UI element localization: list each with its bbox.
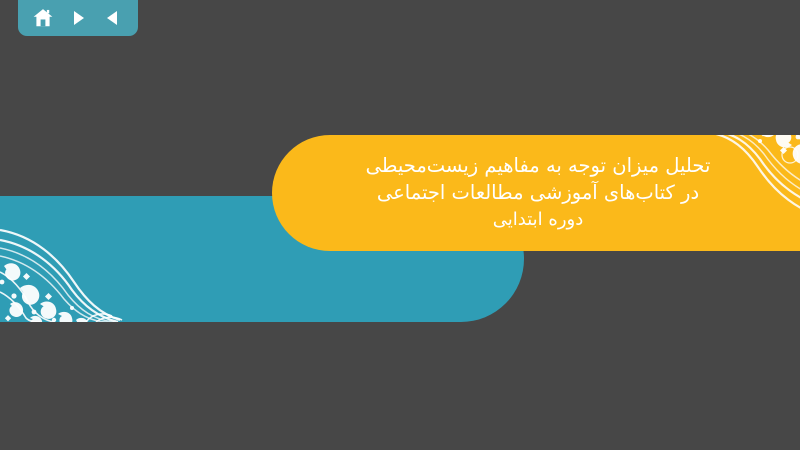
previous-slide-button[interactable]	[100, 5, 126, 31]
slide-title: تحلیل میزان توجه به مفاهیم زیست‌محیطی در…	[290, 135, 790, 251]
title-line-2: در کتاب‌های آموزشی مطالعات اجتماعی	[377, 179, 699, 207]
back-arrow-icon	[103, 8, 123, 28]
title-line-3: دوره ابتدایی	[493, 207, 583, 233]
forward-arrow-icon	[68, 8, 88, 28]
arabesque-corner-ornament	[0, 196, 170, 322]
presentation-slide: تحلیل میزان توجه به مفاهیم زیست‌محیطی در…	[0, 0, 800, 450]
home-icon	[32, 7, 54, 29]
title-line-1: تحلیل میزان توجه به مفاهیم زیست‌محیطی	[366, 152, 711, 180]
home-button[interactable]	[30, 5, 56, 31]
slide-navigation-bar	[18, 0, 138, 36]
next-slide-button[interactable]	[65, 5, 91, 31]
